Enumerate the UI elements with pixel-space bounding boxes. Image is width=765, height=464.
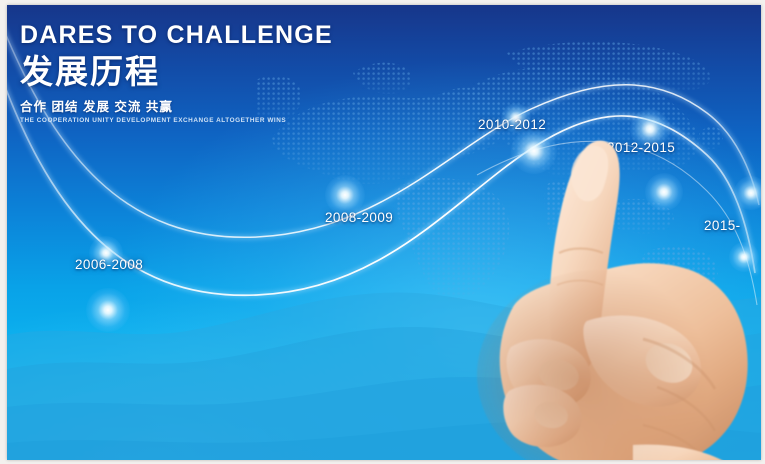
title-english: DARES TO CHALLENGE (20, 23, 333, 48)
pointing-hand-icon (447, 125, 761, 460)
slogan-chinese: 合作 团结 发展 交流 共赢 (20, 101, 333, 114)
poster-header: DARES TO CHALLENGE 发展历程 合作 团结 发展 交流 共赢 T… (20, 23, 333, 125)
poster-root: 2006-2008 2008-2009 2010-2012 2012-2015 … (0, 0, 765, 464)
title-chinese: 发展历程 (20, 54, 333, 91)
poster-frame: 2006-2008 2008-2009 2010-2012 2012-2015 … (7, 5, 761, 460)
slogan-english: THE COOPERATION UNITY DEVELOPMENT EXCHAN… (20, 118, 333, 124)
milestone-label-2008-2009: 2008-2009 (325, 210, 393, 225)
milestone-label-2006-2008: 2006-2008 (75, 257, 143, 272)
